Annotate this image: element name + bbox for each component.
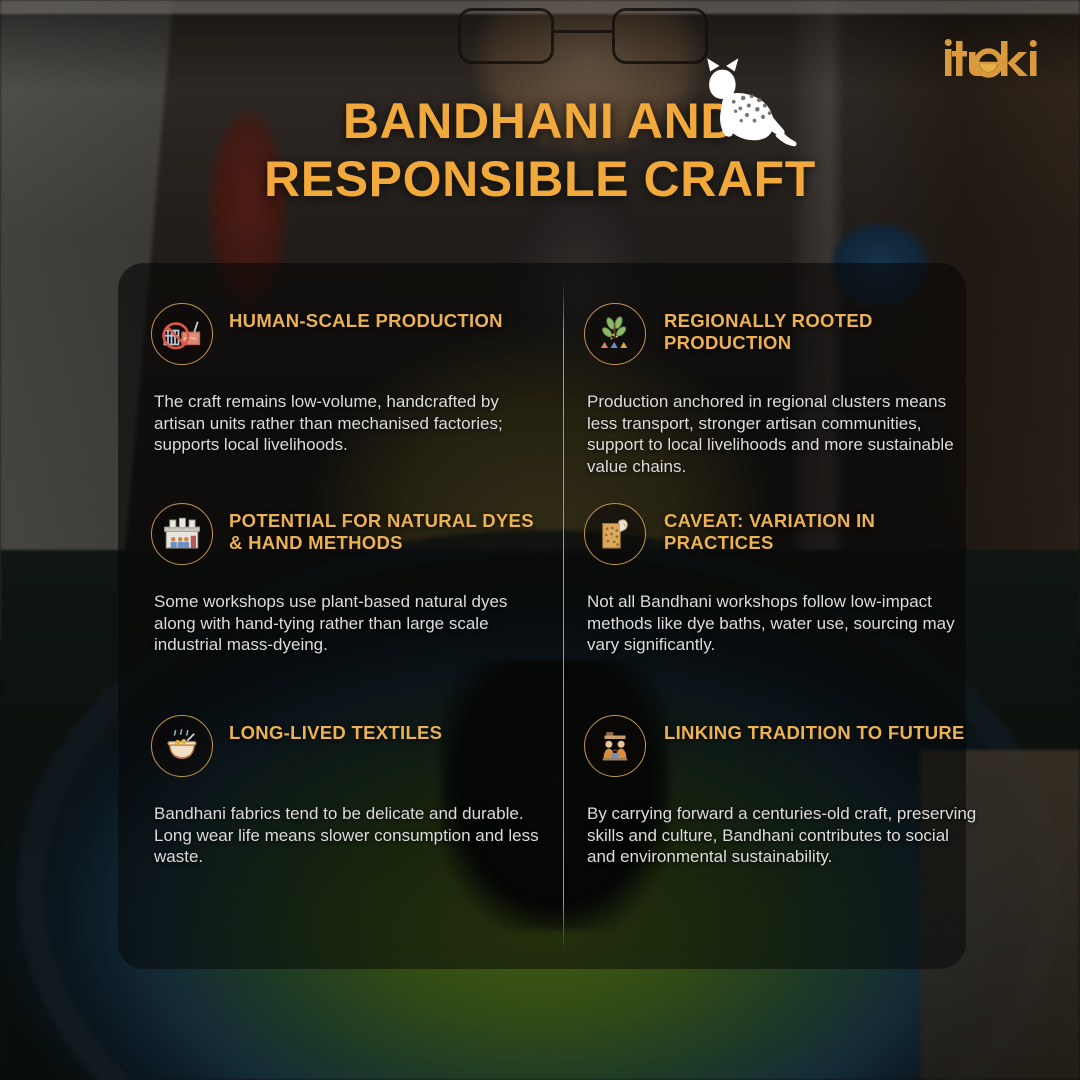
- no-factory-icon: [151, 303, 213, 365]
- steaming-dye-pot-icon: [151, 715, 213, 777]
- card-header: REGIONALLY ROOTED PRODUCTION: [584, 303, 984, 365]
- content-panel: HUMAN-SCALE PRODUCTION The craft remains…: [118, 263, 966, 969]
- card-body: Some workshops use plant-based natural d…: [154, 591, 546, 656]
- card-title: POTENTIAL FOR NATURAL DYES & HAND METHOD…: [229, 503, 551, 554]
- card-human-scale-production: HUMAN-SCALE PRODUCTION The craft remains…: [151, 303, 551, 456]
- card-header: POTENTIAL FOR NATURAL DYES & HAND METHOD…: [151, 503, 551, 565]
- hand-holding-patterned-fabric-icon: [584, 503, 646, 565]
- title-line-2: RESPONSIBLE CRAFT: [0, 150, 1080, 208]
- card-natural-dyes-hand-methods: POTENTIAL FOR NATURAL DYES & HAND METHOD…: [151, 503, 551, 656]
- cards-grid: HUMAN-SCALE PRODUCTION The craft remains…: [118, 263, 966, 969]
- card-linking-tradition-to-future: LINKING TRADITION TO FUTURE By carrying …: [584, 715, 984, 868]
- natural-dye-leaves-and-powder-icon: [584, 303, 646, 365]
- page-title: BANDHANI AND RESPONSIBLE CRAFT: [0, 92, 1080, 208]
- card-title: HUMAN-SCALE PRODUCTION: [229, 303, 503, 332]
- card-caveat-variation: CAVEAT: VARIATION IN PRACTICES Not all B…: [584, 503, 984, 656]
- artisan-workshop-building-icon: [151, 503, 213, 565]
- card-title: CAVEAT: VARIATION IN PRACTICES: [664, 503, 984, 554]
- white-cat-icon: [694, 56, 798, 156]
- card-header: LINKING TRADITION TO FUTURE: [584, 715, 984, 777]
- card-regionally-rooted-production: REGIONALLY ROOTED PRODUCTION Production …: [584, 303, 984, 477]
- title-line-1: BANDHANI AND: [0, 92, 1080, 150]
- card-title: LINKING TRADITION TO FUTURE: [664, 715, 965, 744]
- card-body: Bandhani fabrics tend to be delicate and…: [154, 803, 546, 868]
- card-body: The craft remains low-volume, handcrafte…: [154, 391, 546, 456]
- card-title: LONG-LIVED TEXTILES: [229, 715, 442, 744]
- card-header: HUMAN-SCALE PRODUCTION: [151, 303, 551, 365]
- card-header: CAVEAT: VARIATION IN PRACTICES: [584, 503, 984, 565]
- card-body: Production anchored in regional clusters…: [587, 391, 979, 477]
- itokri-logo[interactable]: [942, 38, 1042, 82]
- card-long-lived-textiles: LONG-LIVED TEXTILES Bandhani fabrics ten…: [151, 715, 551, 868]
- infographic-canvas: BANDHANI AND RESPONSIBLE CRAFT: [0, 0, 1080, 1080]
- card-header: LONG-LIVED TEXTILES: [151, 715, 551, 777]
- two-artisans-working-icon: [584, 715, 646, 777]
- card-body: By carrying forward a centuries-old craf…: [587, 803, 979, 868]
- card-body: Not all Bandhani workshops follow low-im…: [587, 591, 979, 656]
- card-title: REGIONALLY ROOTED PRODUCTION: [664, 303, 984, 354]
